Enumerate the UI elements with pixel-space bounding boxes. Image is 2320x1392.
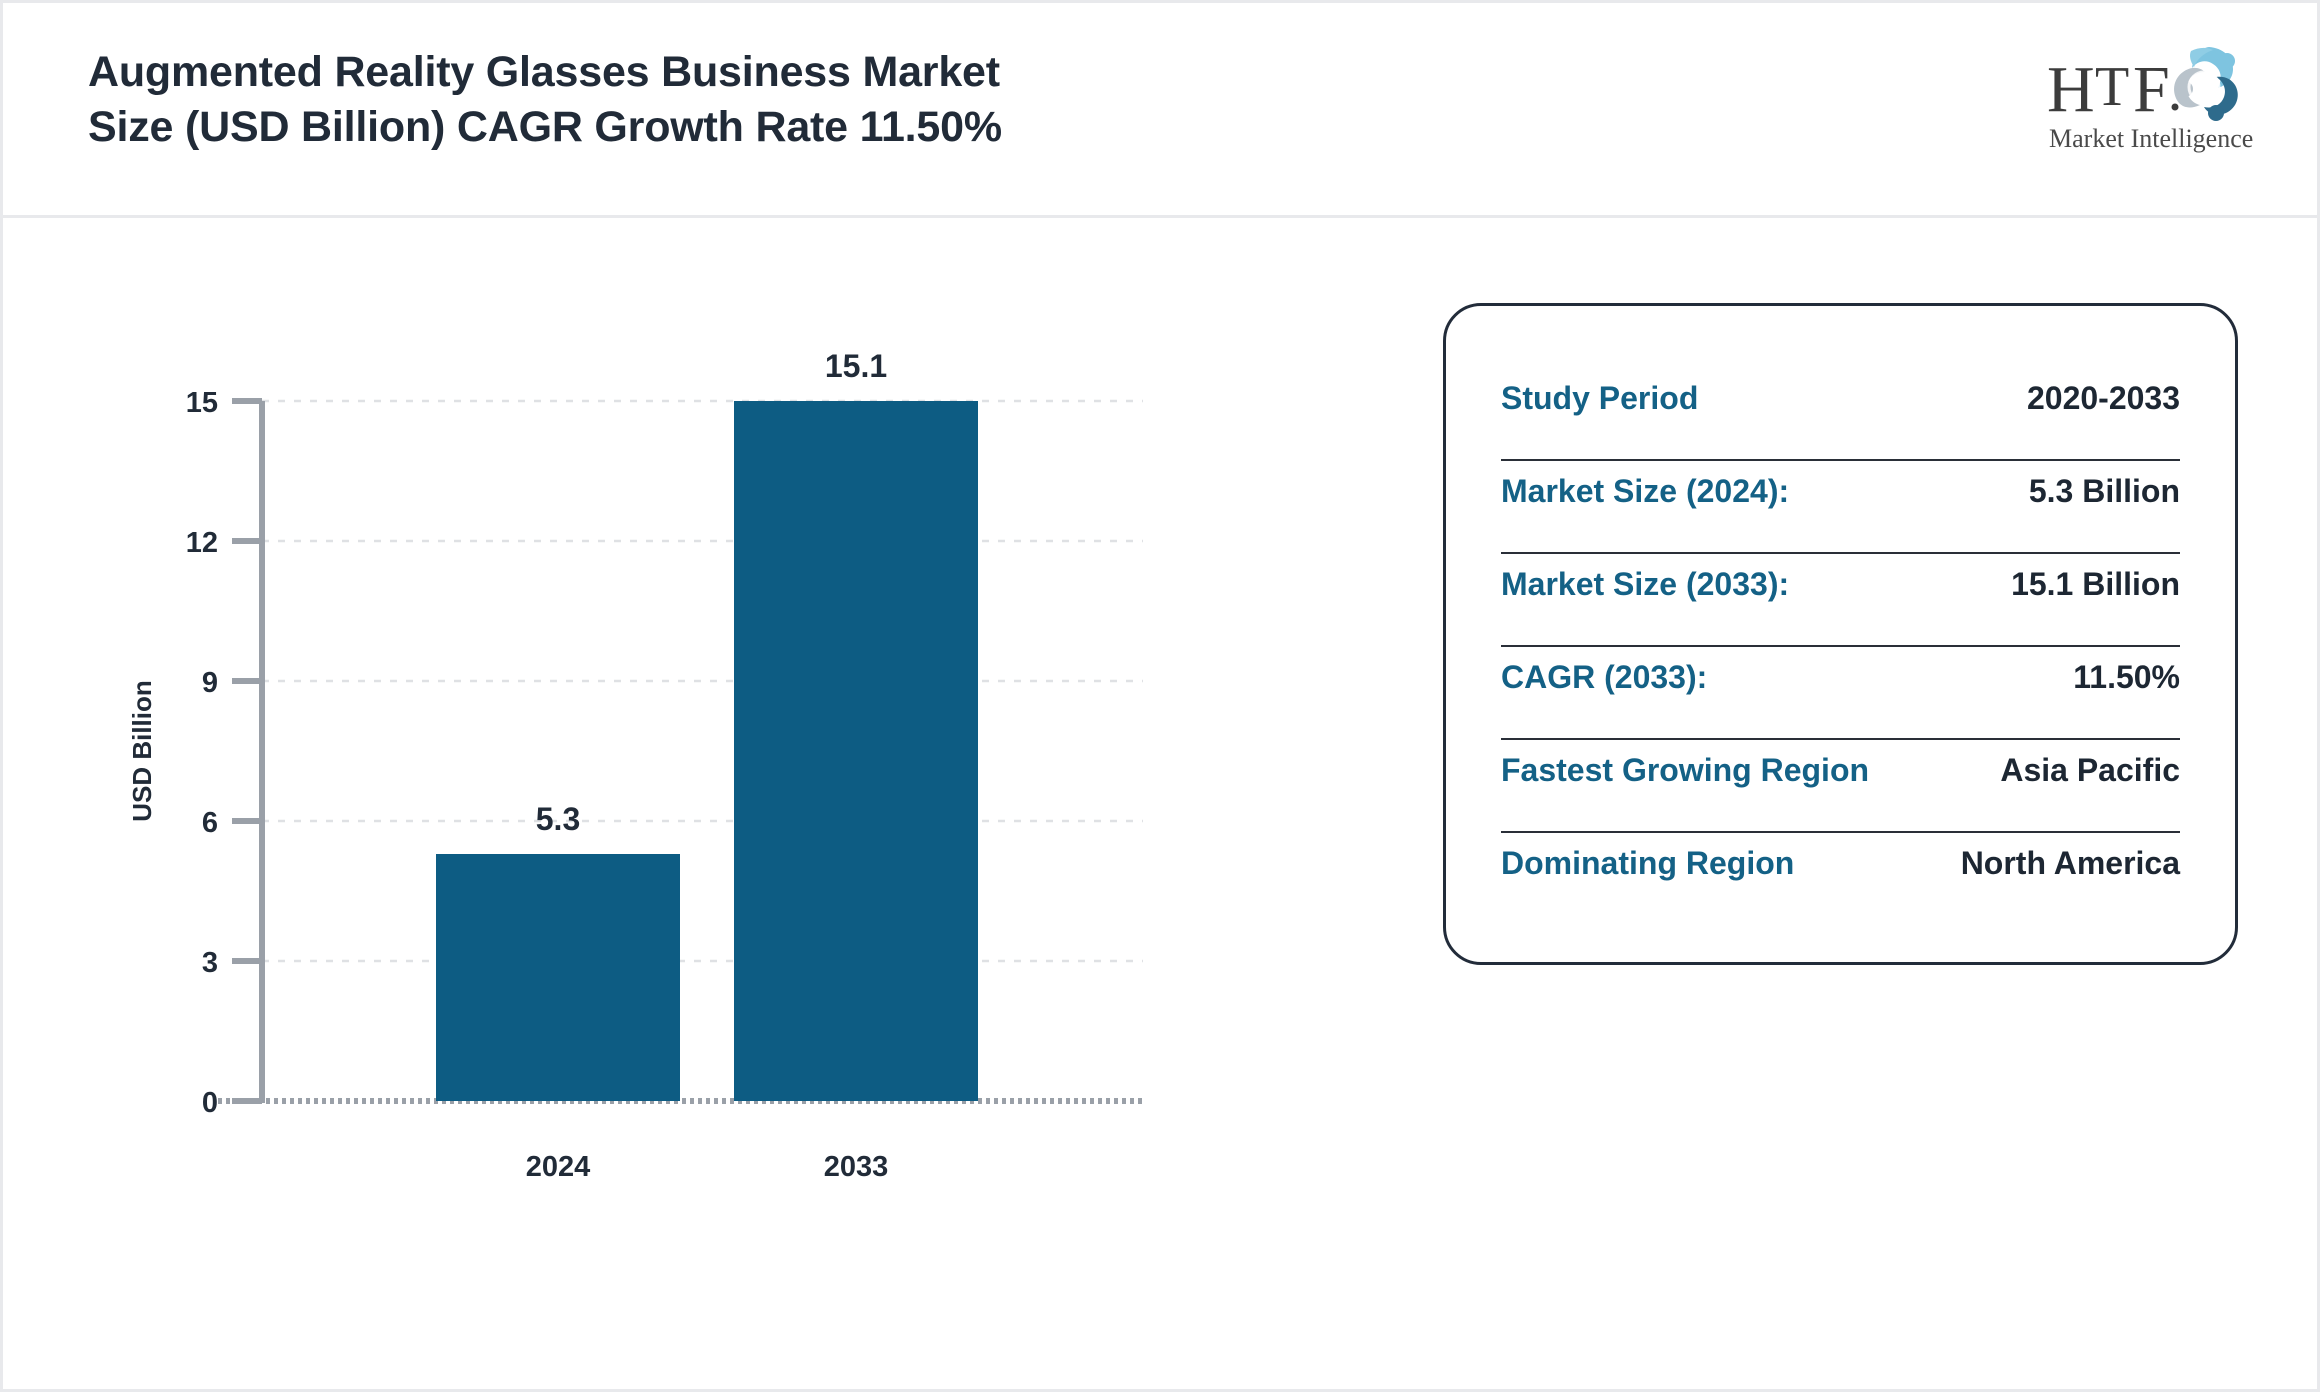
info-value-dominating-region: North America xyxy=(1961,845,2180,882)
info-value-market-size-2024: 5.3 Billion xyxy=(2029,473,2180,510)
bar-chart-panel: 15 12 9 6 3 0 USD Billion 5.3 15.1 2024 … xyxy=(3,218,1403,1392)
y-tick-label-6: 6 xyxy=(202,807,218,839)
bar-2024[interactable] xyxy=(436,854,680,1101)
market-size-bar-chart: 15 12 9 6 3 0 USD Billion 5.3 15.1 2024 … xyxy=(3,218,1403,1392)
y-tick-label-9: 9 xyxy=(202,667,218,699)
bar-value-label-2024: 5.3 xyxy=(536,801,580,837)
svg-text:H: H xyxy=(2047,53,2094,126)
info-label-market-size-2024: Market Size (2024): xyxy=(1501,473,1789,510)
info-label-dominating-region: Dominating Region xyxy=(1501,845,1794,882)
page-title: Augmented Reality Glasses Business Marke… xyxy=(88,45,1488,154)
page-title-line-1: Augmented Reality Glasses Business Marke… xyxy=(88,45,1488,100)
info-value-study-period: 2020-2033 xyxy=(2027,380,2180,417)
info-label-cagr-2033: CAGR (2033): xyxy=(1501,659,1707,696)
logo-tagline: Market Intelligence xyxy=(2049,124,2253,153)
info-value-market-size-2033: 15.1 Billion xyxy=(2011,566,2180,603)
info-label-fastest-growing-region: Fastest Growing Region xyxy=(1501,752,1869,789)
chart-gridlines xyxy=(262,401,1143,961)
info-label-market-size-2033: Market Size (2033): xyxy=(1501,566,1789,603)
y-tick-label-3: 3 xyxy=(202,947,218,979)
y-axis-title: USD Billion xyxy=(127,680,157,822)
infographic-page: Augmented Reality Glasses Business Marke… xyxy=(0,0,2320,1392)
info-row-market-size-2024: Market Size (2024): 5.3 Billion xyxy=(1501,461,2180,554)
info-row-fastest-growing-region: Fastest Growing Region Asia Pacific xyxy=(1501,740,2180,833)
info-label-study-period: Study Period xyxy=(1501,380,1698,417)
y-tick-label-12: 12 xyxy=(186,527,218,559)
bar-value-label-2033: 15.1 xyxy=(825,348,887,384)
htf-market-intelligence-logo: H T F xyxy=(2045,39,2275,157)
svg-text:T: T xyxy=(2095,56,2129,118)
y-tick-label-0: 0 xyxy=(202,1087,218,1119)
info-row-cagr-2033: CAGR (2033): 11.50% xyxy=(1501,647,2180,740)
chart-y-ticks xyxy=(232,401,262,1101)
bar-2033[interactable] xyxy=(734,401,978,1101)
info-row-study-period: Study Period 2020-2033 xyxy=(1501,368,2180,461)
svg-text:F: F xyxy=(2133,53,2170,126)
info-value-cagr-2033: 11.50% xyxy=(2073,659,2180,696)
info-row-dominating-region: Dominating Region North America xyxy=(1501,833,2180,926)
page-header: Augmented Reality Glasses Business Marke… xyxy=(3,3,2320,218)
y-tick-label-15: 15 xyxy=(186,387,218,419)
info-value-fastest-growing-region: Asia Pacific xyxy=(2000,752,2180,789)
market-summary-card: Study Period 2020-2033 Market Size (2024… xyxy=(1443,303,2238,965)
page-title-line-2: Size (USD Billion) CAGR Growth Rate 11.5… xyxy=(88,100,1488,155)
x-category-label-2033: 2033 xyxy=(824,1151,889,1183)
info-row-market-size-2033: Market Size (2033): 15.1 Billion xyxy=(1501,554,2180,647)
x-category-label-2024: 2024 xyxy=(526,1151,591,1183)
